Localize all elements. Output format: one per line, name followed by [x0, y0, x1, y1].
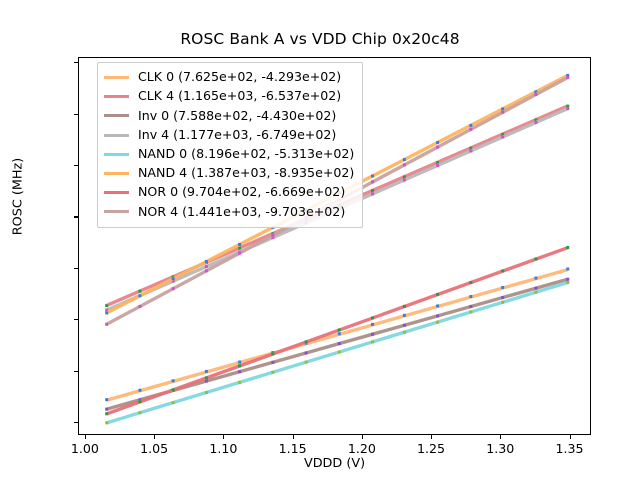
data-point — [138, 389, 141, 392]
legend-line-swatch — [104, 134, 129, 137]
data-point — [436, 141, 439, 144]
data-point — [238, 370, 241, 373]
data-point — [172, 379, 175, 382]
data-point — [403, 314, 406, 317]
legend-line-swatch — [104, 153, 129, 156]
data-point — [403, 163, 406, 166]
legend-line-swatch — [104, 210, 129, 213]
data-point — [105, 421, 108, 424]
legend-label: NOR 4 (1.441e+03, -9.703e+02) — [138, 206, 345, 219]
data-point — [205, 269, 208, 272]
legend-item-nand-4[interactable]: NAND 4 (1.387e+03, -8.935e+02) — [104, 164, 354, 183]
data-point — [338, 351, 341, 354]
x-tick-mark — [85, 435, 86, 439]
data-point — [566, 278, 569, 281]
x-tick-mark — [431, 435, 432, 439]
data-point — [436, 321, 439, 324]
x-tick-mark — [570, 435, 571, 439]
legend-item-inv-0[interactable]: Inv 0 (7.588e+02, -4.430e+02) — [104, 106, 354, 125]
x-tick-label: 1.05 — [119, 441, 189, 456]
data-point — [403, 158, 406, 161]
data-point — [371, 333, 374, 336]
legend-line-swatch — [104, 76, 129, 79]
x-axis-label: VDDD (V) — [78, 456, 591, 471]
data-point — [138, 411, 141, 414]
data-point — [403, 331, 406, 334]
data-point — [205, 260, 208, 263]
data-point — [271, 234, 274, 237]
chart-title: ROSC Bank A vs VDD Chip 0x20c48 — [0, 30, 640, 48]
data-point — [469, 281, 472, 284]
data-point — [534, 93, 537, 96]
data-point — [534, 277, 537, 280]
data-point — [172, 388, 175, 391]
data-point — [371, 340, 374, 343]
data-point — [205, 391, 208, 394]
data-point — [371, 316, 374, 319]
chart-legend: CLK 0 (7.625e+02, -4.293e+02)CLK 4 (1.16… — [97, 62, 363, 228]
data-point — [436, 164, 439, 167]
data-point — [534, 121, 537, 124]
legend-item-clk-0[interactable]: CLK 0 (7.625e+02, -4.293e+02) — [104, 68, 354, 87]
y-tick-mark — [74, 268, 78, 269]
data-point — [172, 401, 175, 404]
data-point — [501, 135, 504, 138]
data-point — [172, 277, 175, 280]
data-point — [238, 247, 241, 250]
legend-line-swatch — [104, 114, 129, 117]
data-point — [403, 178, 406, 181]
data-point — [436, 314, 439, 317]
legend-line-swatch — [104, 172, 129, 175]
data-point — [566, 281, 569, 284]
data-point — [271, 371, 274, 374]
data-point — [271, 352, 274, 355]
x-tick-mark — [154, 435, 155, 439]
y-tick-mark — [74, 216, 78, 217]
data-point — [138, 305, 141, 308]
series-nand-0 — [105, 281, 569, 424]
y-tick-mark — [74, 62, 78, 63]
data-point — [238, 252, 241, 255]
x-tick-label: 1.20 — [327, 441, 397, 456]
data-point — [501, 286, 504, 289]
data-point — [205, 370, 208, 373]
data-point — [105, 323, 108, 326]
data-point — [338, 332, 341, 335]
data-point — [338, 342, 341, 345]
data-point — [238, 360, 241, 363]
data-point — [371, 323, 374, 326]
data-point — [469, 305, 472, 308]
series-nor-0 — [105, 246, 569, 415]
data-point — [305, 351, 308, 354]
legend-line-swatch — [104, 95, 129, 98]
data-point — [138, 290, 141, 293]
data-point — [105, 311, 108, 314]
data-point — [566, 107, 569, 110]
x-tick-label: 1.30 — [465, 441, 535, 456]
legend-label: NOR 0 (9.704e+02, -6.669e+02) — [138, 186, 345, 199]
data-point — [338, 328, 341, 331]
legend-line-swatch — [104, 191, 129, 194]
data-point — [305, 340, 308, 343]
legend-item-nor-4[interactable]: NOR 4 (1.441e+03, -9.703e+02) — [104, 202, 354, 221]
data-point — [534, 291, 537, 294]
data-point — [138, 400, 141, 403]
data-point — [534, 287, 537, 290]
data-point — [566, 268, 569, 271]
y-tick-mark — [74, 422, 78, 423]
data-point — [469, 295, 472, 298]
data-point — [172, 287, 175, 290]
data-point — [436, 304, 439, 307]
data-point — [469, 311, 472, 314]
x-tick-mark — [500, 435, 501, 439]
legend-item-nor-0[interactable]: NOR 0 (9.704e+02, -6.669e+02) — [104, 183, 354, 202]
x-tick-label: 1.00 — [50, 441, 120, 456]
x-tick-label: 1.35 — [535, 441, 605, 456]
x-tick-mark — [362, 435, 363, 439]
data-point — [469, 149, 472, 152]
data-point — [566, 246, 569, 249]
legend-label: CLK 4 (1.165e+03, -6.537e+02) — [138, 90, 341, 103]
data-point — [371, 174, 374, 177]
legend-item-nand-0[interactable]: NAND 0 (8.196e+02, -5.313e+02) — [104, 145, 354, 164]
data-point — [105, 408, 108, 411]
y-tick-mark — [74, 319, 78, 320]
data-point — [403, 324, 406, 327]
data-point — [371, 180, 374, 183]
data-point — [105, 412, 108, 415]
x-tick-label: 1.25 — [396, 441, 466, 456]
y-tick-mark — [74, 114, 78, 115]
data-point — [436, 293, 439, 296]
data-point — [436, 146, 439, 149]
x-tick-label: 1.10 — [188, 441, 258, 456]
data-point — [271, 361, 274, 364]
data-point — [501, 301, 504, 304]
data-point — [534, 257, 537, 260]
data-point — [469, 124, 472, 127]
legend-label: CLK 0 (7.625e+02, -4.293e+02) — [138, 71, 341, 84]
data-point — [501, 111, 504, 114]
data-point — [238, 364, 241, 367]
chart-figure: ROSC Bank A vs VDD Chip 0x20c48 30040050… — [0, 0, 640, 480]
data-point — [138, 294, 141, 297]
legend-label: Inv 4 (1.177e+03, -6.749e+02) — [138, 129, 336, 142]
data-point — [238, 243, 241, 246]
legend-item-inv-4[interactable]: Inv 4 (1.177e+03, -6.749e+02) — [104, 126, 354, 145]
data-point — [105, 304, 108, 307]
y-axis-label: ROSC (MHz) — [11, 127, 26, 267]
data-point — [238, 381, 241, 384]
data-point — [469, 128, 472, 131]
y-tick-mark — [74, 165, 78, 166]
legend-label: NAND 4 (1.387e+03, -8.935e+02) — [138, 167, 354, 180]
legend-item-clk-4[interactable]: CLK 4 (1.165e+03, -6.537e+02) — [104, 87, 354, 106]
data-point — [501, 269, 504, 272]
fit-line — [107, 248, 568, 414]
x-tick-mark — [223, 435, 224, 439]
data-point — [205, 265, 208, 268]
data-point — [305, 361, 308, 364]
fit-line — [107, 282, 568, 422]
data-point — [205, 376, 208, 379]
x-tick-label: 1.15 — [258, 441, 328, 456]
data-point — [403, 305, 406, 308]
data-point — [501, 296, 504, 299]
data-point — [371, 192, 374, 195]
legend-label: Inv 0 (7.588e+02, -4.430e+02) — [138, 110, 336, 123]
x-tick-mark — [293, 435, 294, 439]
legend-label: NAND 0 (8.196e+02, -5.313e+02) — [138, 148, 354, 161]
data-point — [105, 398, 108, 401]
fit-line — [107, 270, 568, 401]
y-tick-mark — [74, 371, 78, 372]
data-point — [566, 76, 569, 79]
